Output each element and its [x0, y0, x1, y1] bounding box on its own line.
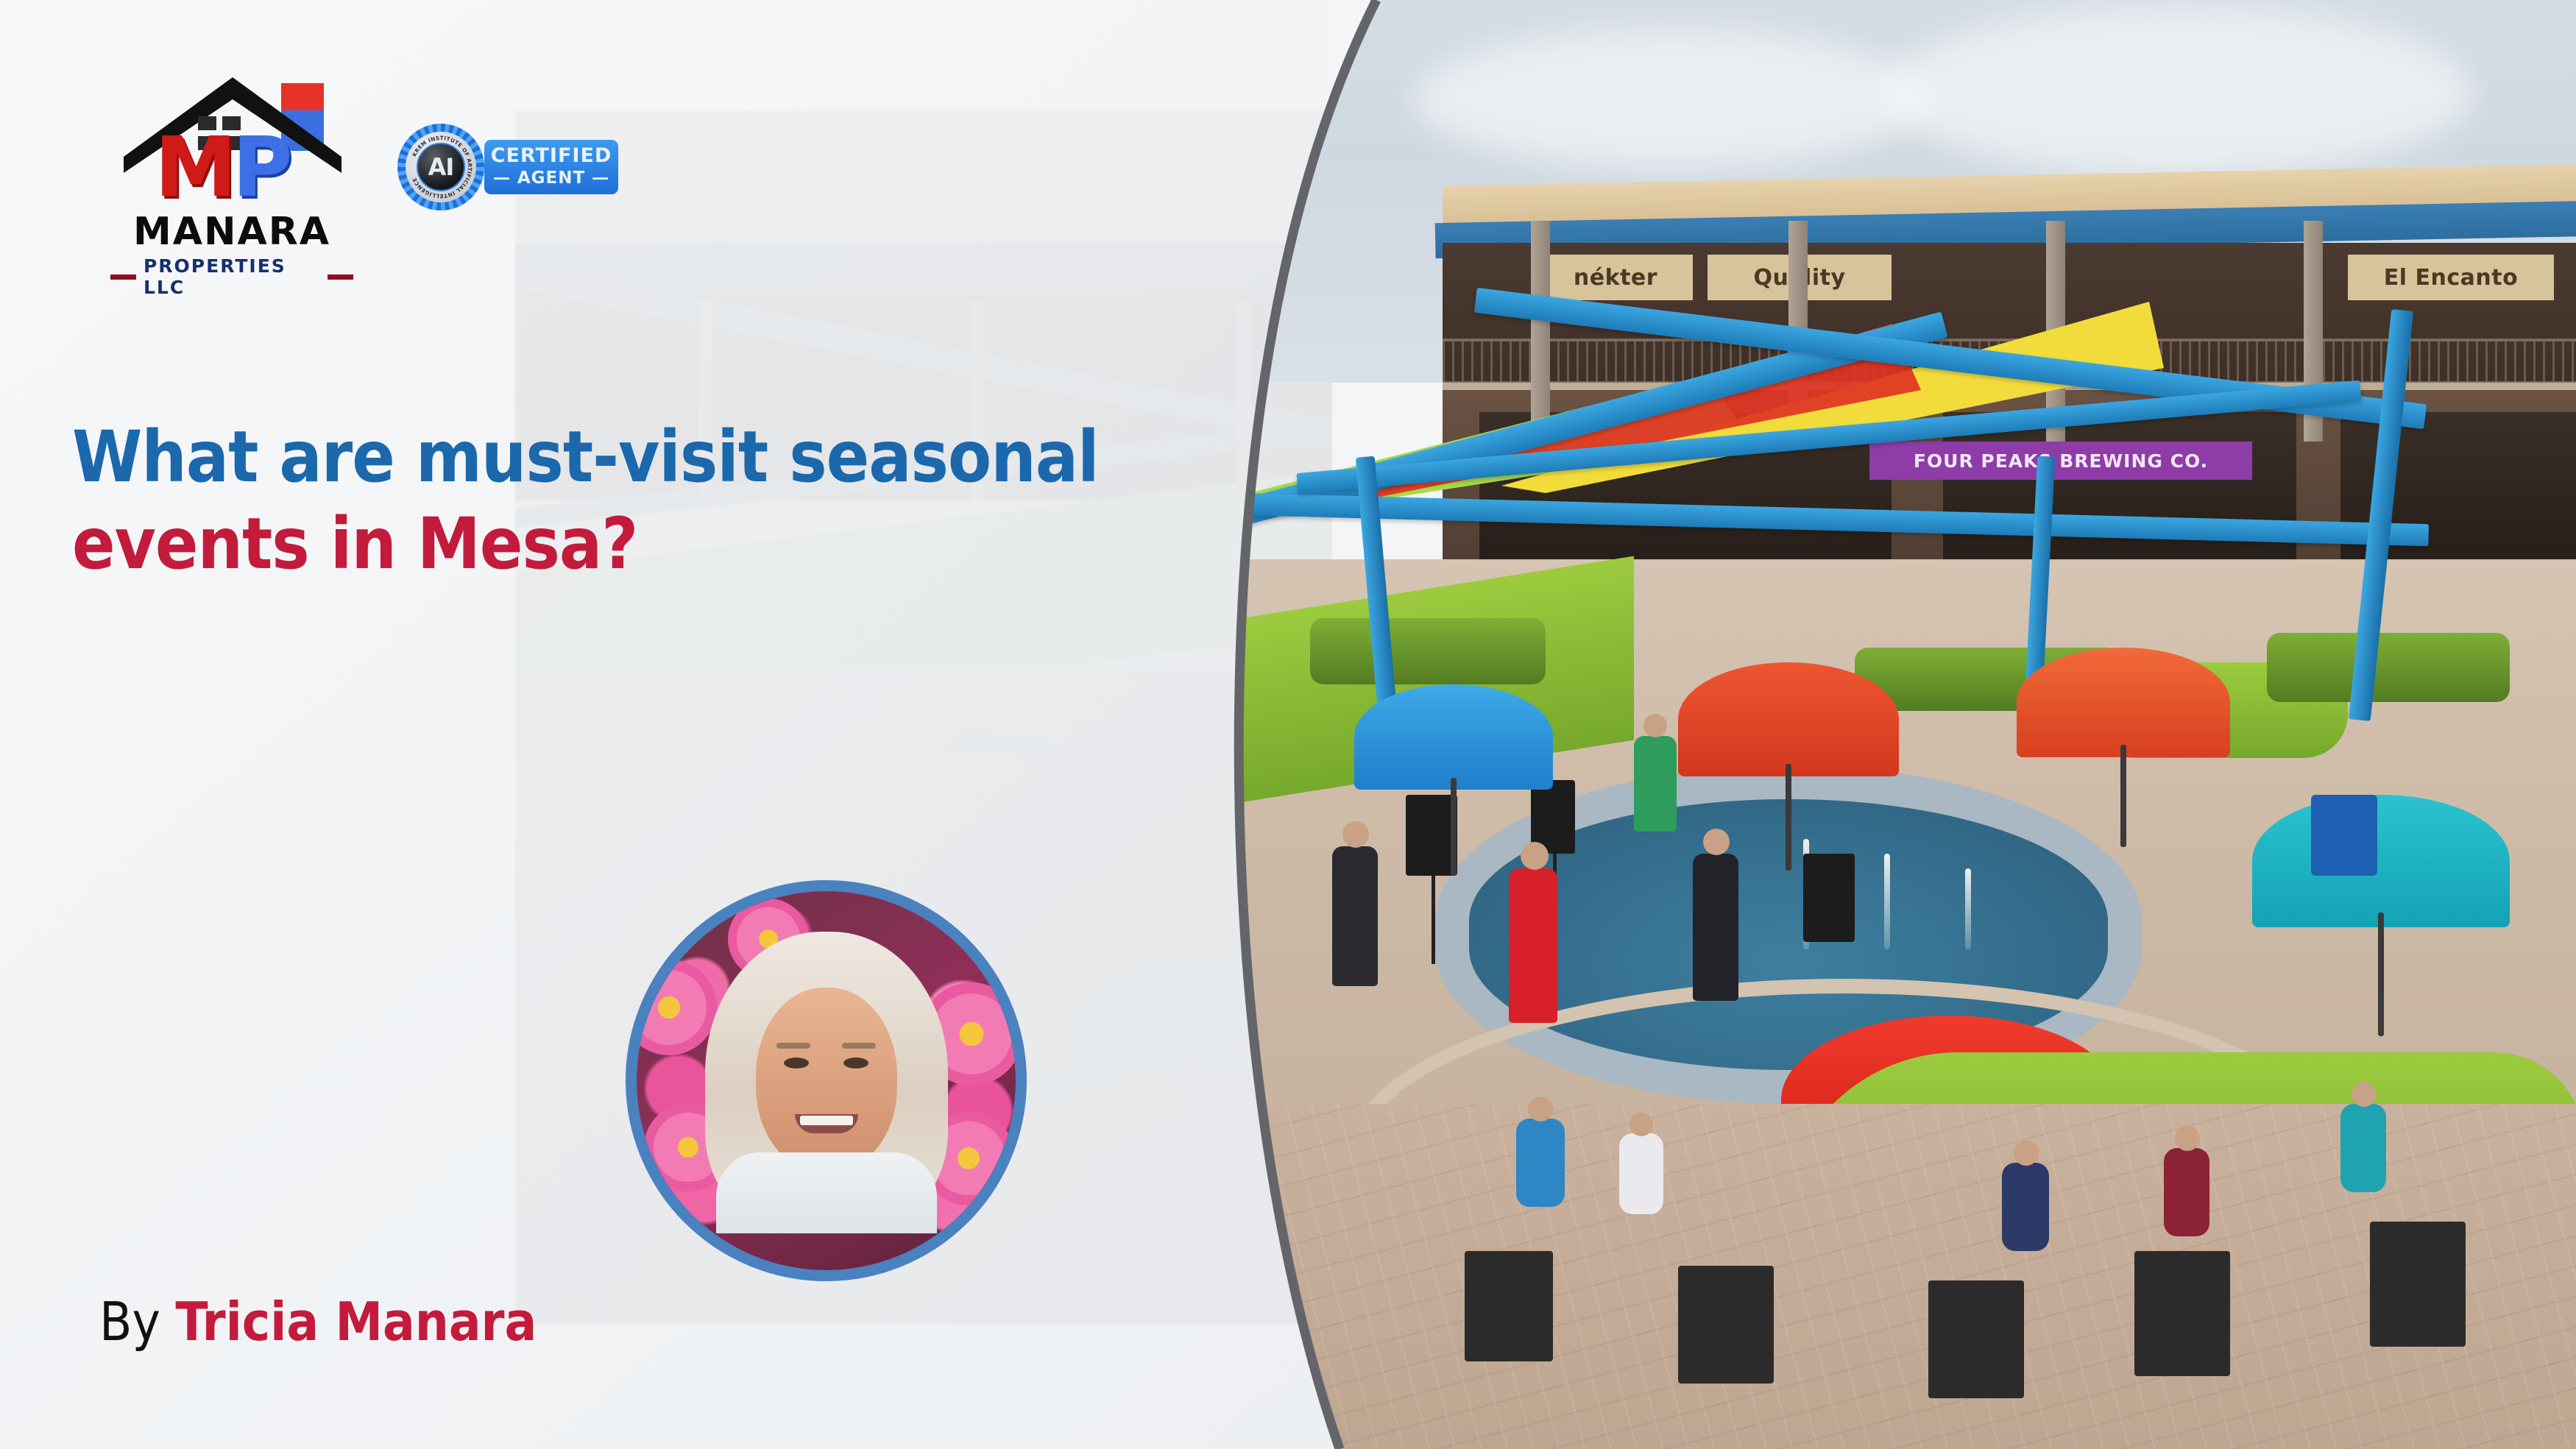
patio-umbrella [1354, 684, 1553, 854]
logo-company-name: MANARA [110, 210, 353, 254]
hero-photo: nékter Quality El Encanto FOUR PEAKS BRE… [1222, 0, 2576, 1449]
logo-subtitle: PROPERTIES LLC [144, 255, 320, 298]
page-title: What are must-visit seasonal events in M… [72, 414, 1139, 587]
patio-chair [2370, 1222, 2466, 1347]
band-member [1332, 846, 1378, 986]
badge-certified-label: CERTIFIED [491, 146, 612, 166]
logo-monogram-m: M [155, 120, 232, 216]
left-content-panel: MP MANARA PROPERTIES LLC CERTIFIED — AGE… [0, 0, 1332, 1449]
logo-rule-right [328, 274, 353, 280]
patio-umbrella [2017, 648, 2230, 824]
logo-monogram: MP [155, 131, 316, 205]
seal-ring-text: KREM INSTITUTE OF ARTIFICIAL INTELLIGENC… [406, 132, 476, 202]
band-member [1693, 854, 1738, 1001]
seated-guest [2164, 1148, 2209, 1236]
ai-seal-icon: KREM INSTITUTE OF ARTIFICIAL INTELLIGENC… [397, 124, 484, 210]
seated-guest [1516, 1119, 1565, 1207]
patio-chair [1678, 1266, 1774, 1384]
headline-line-2: events in Mesa? [72, 500, 1139, 587]
band-singer [1509, 868, 1557, 1023]
certified-agent-tag: CERTIFIED — AGENT — [484, 140, 618, 194]
patio-chair [2134, 1251, 2230, 1376]
author-avatar [626, 880, 1027, 1281]
patio-umbrella [2252, 795, 2510, 1008]
badge-agent-label: — AGENT — [493, 169, 609, 188]
logo-subtitle-row: PROPERTIES LLC [110, 255, 353, 298]
stage-speaker [1803, 854, 1855, 942]
ai-certified-agent-badge[interactable]: CERTIFIED — AGENT — KREM INSTITUTE OF AR… [397, 124, 618, 210]
company-logo[interactable]: MP MANARA PROPERTIES LLC [110, 63, 353, 283]
headline-line-1: What are must-visit seasonal [72, 414, 1139, 500]
patio-chair [1928, 1280, 2024, 1398]
svg-text:KREM INSTITUTE OF ARTIFICIAL I: KREM INSTITUTE OF ARTIFICIAL INTELLIGENC… [411, 135, 473, 199]
seated-guest [1619, 1133, 1663, 1214]
patio-umbrella [1678, 662, 1899, 846]
spectator [1634, 736, 1677, 832]
poster-canvas: MP MANARA PROPERTIES LLC CERTIFIED — AGE… [0, 0, 2576, 1449]
store-sign: El Encanto [2348, 255, 2554, 300]
avatar-face [716, 949, 937, 1228]
seated-guest [2340, 1104, 2386, 1192]
patio-chair [1465, 1251, 1553, 1361]
byline-author-name: Tricia Manara [175, 1291, 537, 1353]
trash-receptacle [2311, 795, 2377, 876]
byline-prefix: By [99, 1291, 175, 1353]
logo-monogram-p: P [232, 120, 288, 216]
logo-rule-left [110, 274, 136, 280]
byline: By Tricia Manara [99, 1292, 537, 1352]
seated-guest [2002, 1163, 2049, 1251]
